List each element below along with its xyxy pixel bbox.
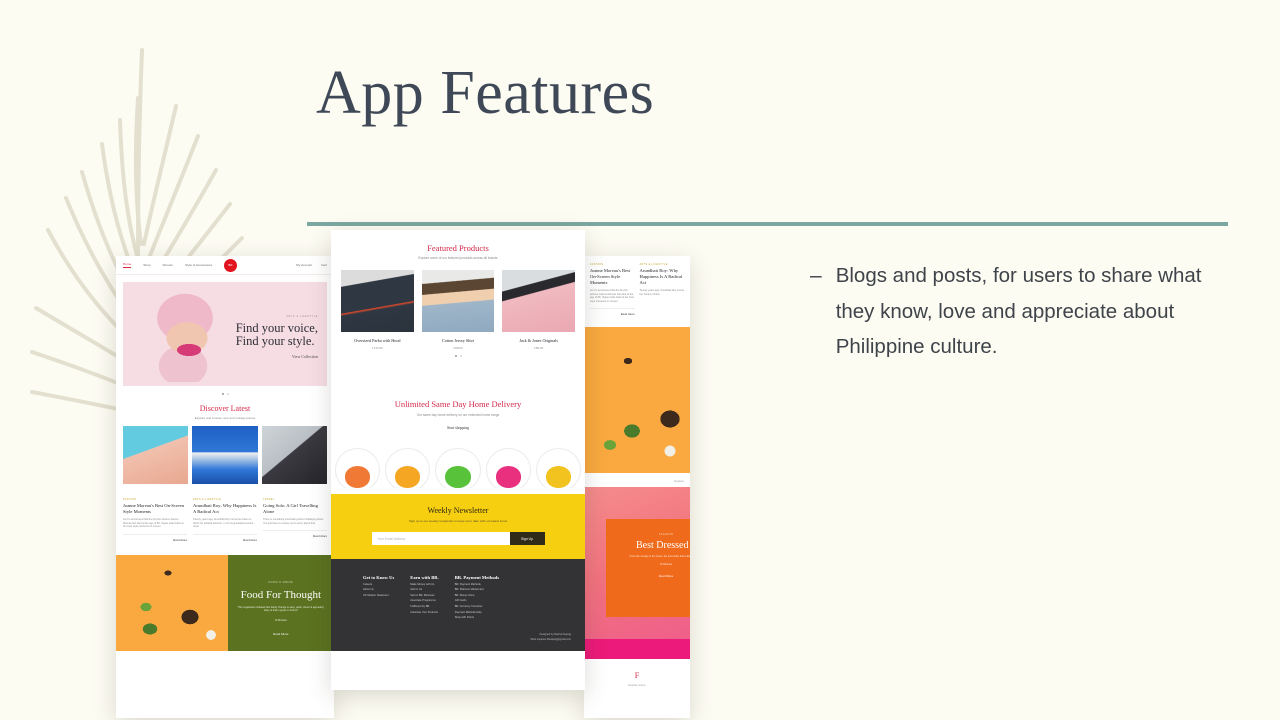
food-read-more-link[interactable]: Read More bbox=[228, 632, 334, 636]
blog-headline: Arundhati Roy: Why Happiness Is A Radica… bbox=[193, 503, 257, 515]
food-photo bbox=[116, 555, 228, 651]
best-dressed-card[interactable]: FASHION Best Dressed 2 From the runway t… bbox=[606, 519, 690, 617]
footer-heading: Get to Know Us bbox=[363, 575, 394, 580]
food-feature-section: FOOD & DRINK Food For Thought This veget… bbox=[116, 555, 334, 651]
footer-heading: Earn with BR. bbox=[410, 575, 438, 580]
newsletter-subtitle: Sign up to our weekly newsletter to keep… bbox=[331, 519, 585, 523]
bullet-text: Blogs and posts, for users to share what… bbox=[836, 258, 1240, 365]
hero-kicker: ARTS & LIFESTYLE bbox=[286, 315, 318, 318]
card-kicker: FASHION bbox=[606, 533, 690, 536]
footer-link[interactable]: Careers bbox=[363, 583, 394, 586]
bottom-section-title: F bbox=[584, 671, 690, 680]
footer-column: Earn with BR. Make Money with Us Sell on… bbox=[410, 575, 438, 619]
bottom-section-subtitle: Explore some bbox=[584, 683, 690, 687]
footer-link[interactable]: About Us bbox=[363, 588, 394, 591]
footer-link[interactable]: Associate Programme bbox=[410, 599, 438, 602]
bullet-list: – Blogs and posts, for users to share wh… bbox=[810, 258, 1240, 365]
product-name: Oversized Parka with Hood bbox=[341, 338, 414, 343]
flower-bowl-4 bbox=[486, 448, 531, 488]
footer-link[interactable]: Sell on BR. Business bbox=[410, 594, 438, 597]
discover-card-images bbox=[116, 426, 334, 484]
blog-headline: Arundhati Roy: Why Happiness Is A Radica… bbox=[640, 268, 685, 286]
blog-headline: Joanne Moreau's Best On-Screen Style Mom… bbox=[590, 268, 635, 286]
card-body: From the runway to the street, the best … bbox=[606, 555, 690, 558]
blog-card[interactable]: FASHION Joanne Moreau's Best On-Screen S… bbox=[590, 263, 635, 316]
card-read-time: 10 Minutes bbox=[606, 563, 690, 566]
blog-card[interactable]: ARTS & LIFESTYLE Arundhati Roy: Why Happ… bbox=[193, 498, 257, 542]
footer-link[interactable]: Advertise Your Products bbox=[410, 611, 438, 614]
blog-kicker: TRAVEL bbox=[263, 498, 327, 501]
blog-kicker: FASHION bbox=[590, 263, 635, 266]
product-name: Jack & Jones Originals bbox=[502, 338, 575, 343]
footer-heading: BR. Payment Methods bbox=[455, 575, 499, 580]
blog-card[interactable]: TRAVEL Going Solo: A Girl Travelling Alo… bbox=[263, 498, 327, 542]
product-price: £89.00 bbox=[502, 346, 575, 350]
newsletter-section: Weekly Newsletter Sign up to our weekly … bbox=[331, 494, 585, 559]
blog-read-more-link[interactable]: Read more bbox=[123, 534, 187, 542]
mockup-panel-middle: Featured Products Explore some of our fe… bbox=[331, 230, 585, 690]
flower-bowl-5 bbox=[536, 448, 581, 488]
discover-image-2[interactable] bbox=[192, 426, 257, 484]
product-card[interactable]: Cotton Jersey Shirt £98.00 bbox=[422, 270, 495, 350]
footer-link[interactable]: Gift Cards bbox=[455, 599, 499, 602]
food-title: Food For Thought bbox=[228, 589, 334, 601]
blog-body: As it is announced that the French actre… bbox=[590, 289, 635, 303]
explore-label: Explore bbox=[584, 473, 690, 483]
bullet-dash-marker: – bbox=[810, 258, 822, 294]
blog-body: There is something intoxicating about ho… bbox=[263, 518, 327, 525]
carousel-dot-2[interactable] bbox=[227, 393, 229, 395]
blog-headline: Going Solo: A Girl Travelling Alone bbox=[263, 503, 327, 515]
hero-banner: ARTS & LIFESTYLE Find your voice, Find y… bbox=[123, 282, 327, 386]
footer-credit: Designed by Rachel Dejuvig Write inquiri… bbox=[331, 633, 585, 641]
product-image[interactable] bbox=[502, 270, 575, 332]
blog-body: As it is announced that the French actre… bbox=[123, 518, 187, 529]
discover-section-header: Discover Latest Explore and browse new a… bbox=[116, 404, 334, 420]
blog-card[interactable]: ARTS & LIFESTYLE Arundhati Roy: Why Happ… bbox=[640, 263, 685, 316]
flower-bowl-1 bbox=[335, 448, 380, 488]
product-card[interactable]: Oversized Parka with Hood £145.00 bbox=[341, 270, 414, 350]
product-price: £145.00 bbox=[341, 346, 414, 350]
footer-link[interactable]: BR. Money Store bbox=[455, 594, 499, 597]
blog-card-row: FASHION Joanne Moreau's Best On-Screen S… bbox=[116, 498, 334, 542]
blog-kicker: ARTS & LIFESTYLE bbox=[193, 498, 257, 501]
footer-link[interactable]: Make Money with Us bbox=[410, 583, 438, 586]
navbar-right-group: My Account Cart bbox=[296, 263, 327, 267]
title-divider bbox=[307, 222, 1228, 226]
delivery-title: Unlimited Same Day Home Delivery bbox=[331, 399, 585, 409]
slide-title: App Features bbox=[316, 62, 654, 124]
food-feature-text: FOOD & DRINK Food For Thought This veget… bbox=[228, 555, 334, 651]
featured-subtitle: Explore some of our featured products ac… bbox=[331, 256, 585, 260]
footer-link[interactable]: UK Modern Statement bbox=[363, 594, 394, 597]
nav-item-home[interactable]: Home bbox=[123, 262, 131, 268]
discover-title: Discover Latest bbox=[116, 404, 334, 413]
flower-bowl-gallery bbox=[331, 448, 585, 488]
blog-headline: Joanne Moreau's Best On-Screen Style Mom… bbox=[123, 503, 187, 515]
product-grid: Oversized Parka with Hood £145.00 Cotton… bbox=[331, 270, 585, 350]
nav-item-shop[interactable]: Shop bbox=[143, 263, 150, 267]
carousel-dots[interactable] bbox=[116, 393, 334, 395]
blog-body: Twenty years ago, Arundhati Roy turned h… bbox=[193, 518, 257, 529]
product-card[interactable]: Jack & Jones Originals £89.00 bbox=[502, 270, 575, 350]
brand-logo[interactable]: BR. bbox=[224, 259, 237, 272]
mockup-panel-right: FASHION Joanne Moreau's Best On-Screen S… bbox=[584, 256, 690, 718]
food-read-time: 10 Minutes bbox=[228, 619, 334, 622]
newsletter-title: Weekly Newsletter bbox=[331, 506, 585, 515]
product-price: £98.00 bbox=[422, 346, 495, 350]
blog-body: Twenty years ago, Arundhati Roy turned h… bbox=[640, 289, 685, 296]
footer-column: BR. Payment Methods BR. Payment Methods … bbox=[455, 575, 499, 619]
carousel-dot-2[interactable] bbox=[460, 355, 462, 357]
magenta-accent-bar bbox=[584, 639, 690, 659]
footer-link[interactable]: Fulfilment by BR. bbox=[410, 605, 438, 608]
footer-link[interactable]: Sell on Us bbox=[410, 588, 438, 591]
start-shopping-link[interactable]: Start shopping bbox=[331, 426, 585, 430]
footer-credit-line2: Write inquiries libarapsg@gmail.com bbox=[331, 638, 571, 641]
product-image[interactable] bbox=[341, 270, 414, 332]
best-dressed-section: FASHION Best Dressed 2 From the runway t… bbox=[584, 487, 690, 639]
nav-item-cart[interactable]: Cart bbox=[321, 263, 327, 267]
blog-read-more-link[interactable]: Read more bbox=[263, 530, 327, 538]
bullet-item: – Blogs and posts, for users to share wh… bbox=[810, 258, 1240, 365]
nav-item-women[interactable]: Women bbox=[163, 263, 174, 267]
hero-headline-line2: Find your style. bbox=[236, 335, 318, 348]
footer-link[interactable]: BR. Payment Methods bbox=[455, 583, 499, 586]
blog-card[interactable]: FASHION Joanne Moreau's Best On-Screen S… bbox=[123, 498, 187, 542]
footer-column: Get to Know Us Careers About Us UK Moder… bbox=[363, 575, 394, 619]
carousel-dots[interactable] bbox=[331, 355, 585, 357]
featured-title: Featured Products bbox=[331, 243, 585, 253]
product-name: Cotton Jersey Shirt bbox=[422, 338, 495, 343]
blog-read-more-link[interactable]: Read more bbox=[193, 534, 257, 542]
right-blog-row: FASHION Joanne Moreau's Best On-Screen S… bbox=[584, 256, 690, 316]
site-footer: Get to Know Us Careers About Us UK Moder… bbox=[331, 559, 585, 651]
featured-products-section: Featured Products Explore some of our fe… bbox=[331, 230, 585, 357]
delivery-subtitle: Our same day home delivery on our extend… bbox=[331, 413, 585, 417]
discover-image-3[interactable] bbox=[262, 426, 327, 484]
flower-bowl-2 bbox=[385, 448, 430, 488]
food-photo bbox=[584, 327, 690, 473]
blog-read-more-link[interactable]: Read more bbox=[590, 308, 635, 316]
card-read-more-link[interactable]: Read More bbox=[606, 574, 690, 578]
hero-headline: Find your voice, Find your style. bbox=[236, 322, 318, 348]
food-body: This vegetarian midweek fast family chan… bbox=[228, 606, 334, 613]
sign-up-button[interactable]: Sign Up bbox=[510, 532, 545, 545]
hero-cta-link[interactable]: View Collection bbox=[292, 354, 318, 359]
email-input[interactable]: Your Email Address bbox=[372, 532, 510, 545]
carousel-dot-1[interactable] bbox=[455, 355, 457, 357]
discover-image-1[interactable] bbox=[123, 426, 188, 484]
product-image[interactable] bbox=[422, 270, 495, 332]
hero-portrait-image bbox=[137, 288, 237, 382]
footer-columns: Get to Know Us Careers About Us UK Moder… bbox=[331, 575, 585, 619]
footer-link[interactable]: Shop with Points bbox=[455, 616, 499, 619]
slide-canvas: App Features – Blogs and posts, for user… bbox=[0, 0, 1280, 720]
newsletter-form: Your Email Address Sign Up bbox=[331, 532, 585, 545]
footer-link[interactable]: BR. Platinum Mastercard bbox=[455, 588, 499, 591]
food-kicker: FOOD & DRINK bbox=[228, 581, 334, 584]
card-title: Best Dressed 2 bbox=[606, 540, 690, 551]
blog-kicker: ARTS & LIFESTYLE bbox=[640, 263, 685, 266]
blog-kicker: FASHION bbox=[123, 498, 187, 501]
mockup-panel-left: Home Shop Women Style & Accessories BR. … bbox=[116, 256, 334, 718]
footer-credit-line1: Designed by Rachel Dejuvig bbox=[331, 633, 571, 636]
nav-item-my-account[interactable]: My Account bbox=[296, 263, 312, 267]
website-mockup-collage: Home Shop Women Style & Accessories BR. … bbox=[0, 230, 720, 700]
mockup-navbar: Home Shop Women Style & Accessories BR. … bbox=[116, 256, 334, 275]
nav-item-style-accessories[interactable]: Style & Accessories bbox=[185, 263, 212, 267]
discover-subtitle: Explore and browse new and vintage piece… bbox=[116, 416, 334, 420]
flower-bowl-3 bbox=[435, 448, 480, 488]
delivery-section: Unlimited Same Day Home Delivery Our sam… bbox=[331, 399, 585, 430]
right-bottom-section: F Explore some bbox=[584, 659, 690, 687]
footer-link[interactable]: BR. Currency Converter bbox=[455, 605, 499, 608]
carousel-dot-1[interactable] bbox=[222, 393, 224, 395]
footer-link[interactable]: Payment Methods Help bbox=[455, 611, 499, 614]
